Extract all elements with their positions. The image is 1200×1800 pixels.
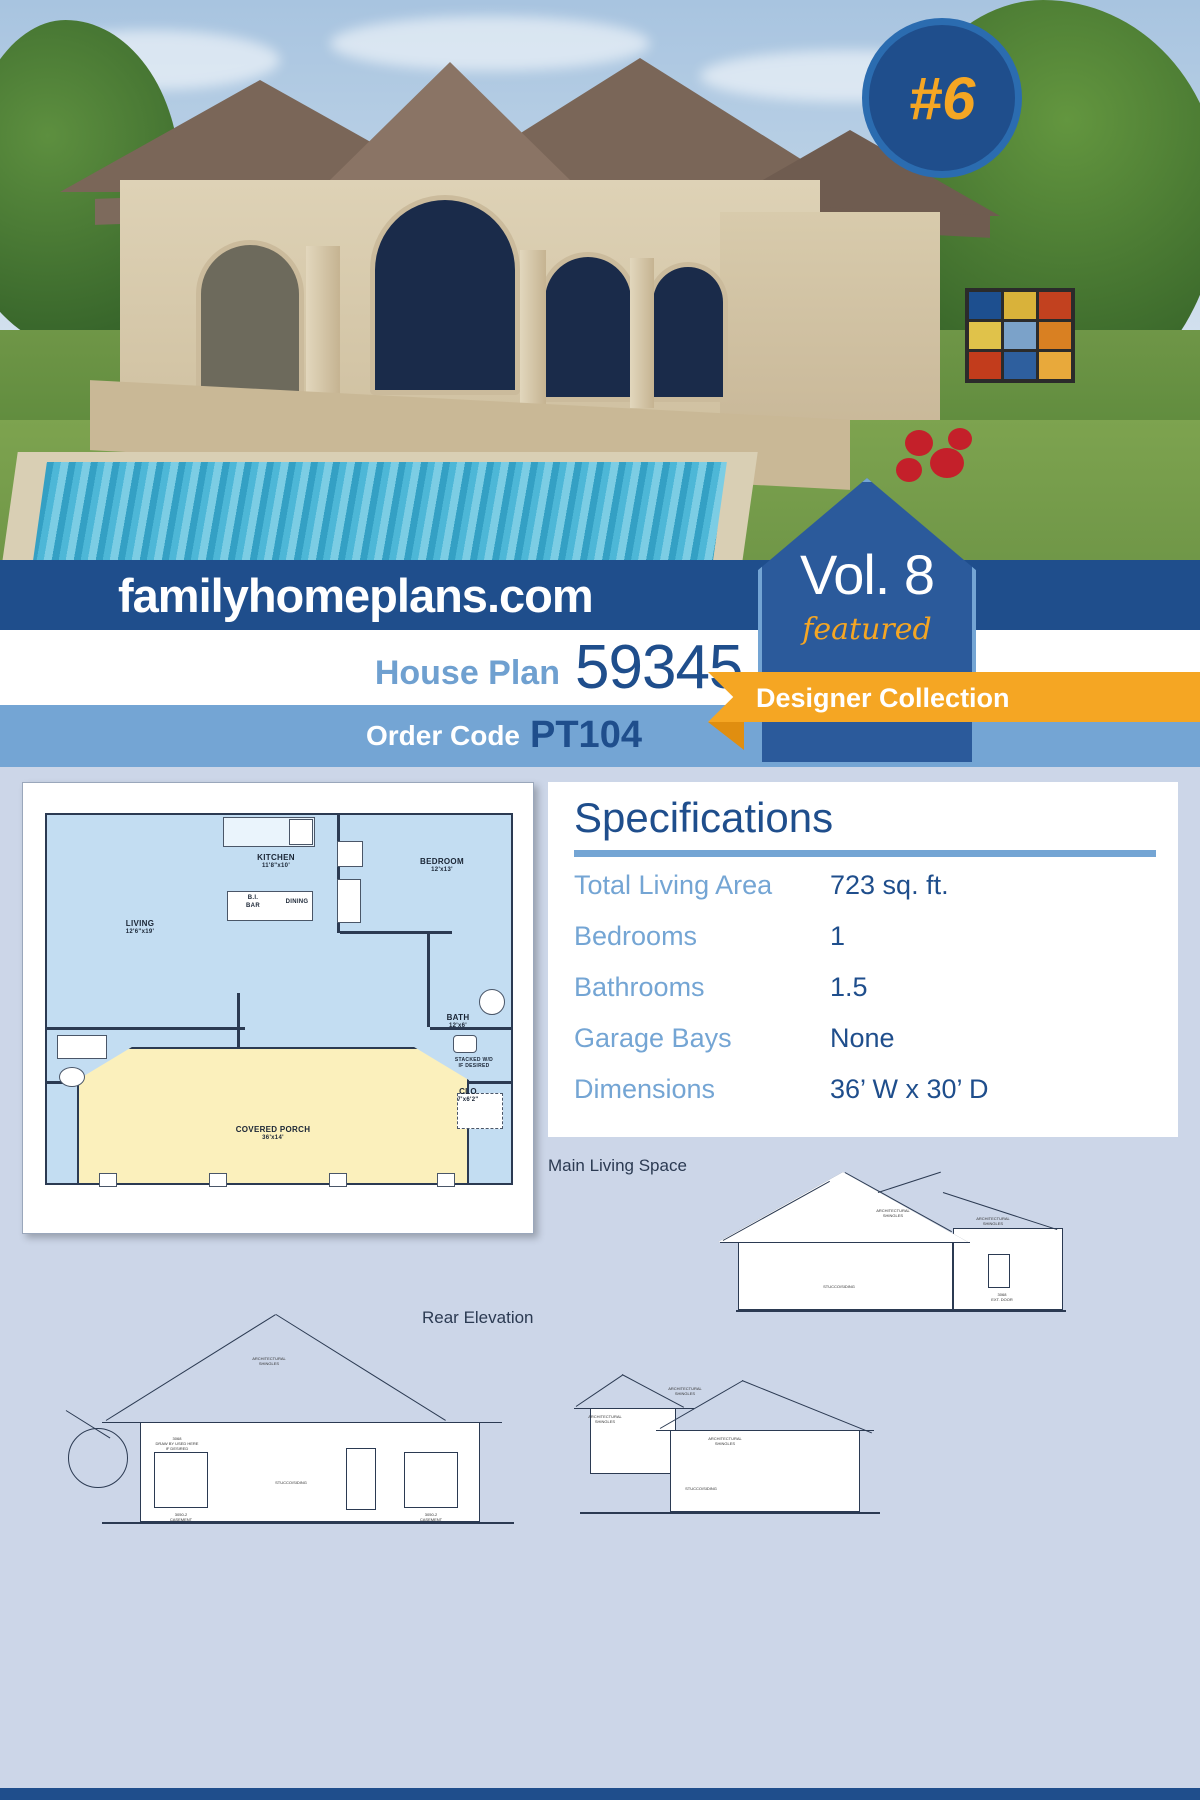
elevation-eave-line [656,1430,874,1431]
elevation-wall [738,1242,953,1310]
note-built-in-bar: B.I. BAR [233,895,273,910]
elevation-roof-edge [576,1375,623,1407]
brand-bar: familyhomeplans.com [0,560,1200,630]
elevation-door [346,1448,376,1510]
room-label-bedroom: BEDROOM 12'x13' [397,857,487,875]
rank-seal-label: #6 [909,64,976,133]
elevation-eave-line [102,1422,502,1423]
room-label-kitchen: KITCHEN 11'8"x10' [231,853,321,871]
toilet-icon [453,1035,477,1053]
elevation-window-casement [404,1452,458,1508]
wall-segment [45,1027,245,1030]
room-name: BEDROOM [420,857,464,866]
designer-collection-label: Designer Collection [756,683,1010,714]
elevation-roof-edge [276,1314,446,1421]
spec-row-dimensions: Dimensions 36’ W x 30’ D [574,1074,1156,1125]
rank-seal-badge: #6 [862,18,1022,178]
house-plan-label: House Plan [375,654,560,693]
elevation-annotation: STUCCO/SIDING [262,1480,320,1485]
elevation-annotation: 3068 DRAW BY USED HERE IF DESIRED [142,1436,212,1452]
spec-key: Bathrooms [574,972,705,1003]
room-dims: 11'8"x10' [231,863,321,871]
site-logo-text[interactable]: familyhomeplans.com [118,568,593,623]
specifications-divider [574,850,1156,857]
footer-bar [0,1788,1200,1800]
elevation-grade-line [736,1310,1066,1312]
room-label-covered-porch: COVERED PORCH 36'x14' [193,1125,353,1143]
spec-value: None [830,1023,895,1054]
wall-segment [340,931,452,934]
flower-icon [905,430,933,456]
spec-row-bathrooms: Bathrooms 1.5 [574,972,1156,1023]
elevation-caption: Rear Elevation [422,1308,534,1328]
featured-label: featured [762,612,972,647]
elevation-annotation: ARCHITECTURAL SHINGLES [964,1216,1022,1226]
note-stacked-washer-dryer: STACKED W/D IF DESIRED [439,1057,509,1070]
spec-key: Bedrooms [574,921,697,952]
room-name: COVERED PORCH [236,1125,311,1134]
spec-value: 1.5 [830,972,868,1003]
elevation-roof-edge [742,1380,872,1433]
room-dims: 7'x6'2" [435,1097,501,1105]
elevation-window [988,1254,1010,1288]
callout-circle-icon [68,1428,128,1488]
elevation-side: ARCHITECTURAL SHINGLES ARCHITECTURAL SHI… [560,1360,960,1560]
spec-row-total-living-area: Total Living Area 723 sq. ft. [574,870,1156,921]
room-name: LIVING [126,919,154,928]
elevation-annotation: ARCHITECTURAL SHINGLES [656,1386,714,1396]
room-name: KITCHEN [257,853,295,862]
plan-number: 59345 [575,632,742,703]
elevation-roof-edge [106,1314,276,1421]
order-code-label: Order Code [366,720,520,752]
elevation-annotation: ARCHITECTURAL SHINGLES [240,1356,298,1366]
elevation-grade-line [580,1512,880,1514]
spec-value: 1 [830,921,845,952]
flower-icon [896,458,922,482]
specifications-panel: Specifications Total Living Area 723 sq.… [548,782,1178,1137]
elevation-eave-line [720,1242,970,1243]
column-left [306,246,340,411]
lavatory-icon [479,989,505,1015]
arch-window-right2 [648,262,728,402]
elevation-main-living-space: Main Living Space ARCHITECTURAL SHINGLES… [548,1150,1188,1350]
column-right [630,258,654,408]
order-code-value: PT104 [530,714,642,757]
spec-value: 723 sq. ft. [830,870,949,901]
floor-plan-drawing: KITCHEN 11'8"x10' LIVING 12'6"x19' BEDRO… [37,795,521,1223]
porch-pier [209,1173,227,1187]
elevation-annotation: ARCHITECTURAL SHINGLES [576,1414,634,1424]
covered-porch-area [77,1047,469,1185]
elevation-annotation: ARCHITECTURAL SHINGLES [696,1436,754,1446]
spec-row-garage-bays: Garage Bays None [574,1023,1156,1074]
specifications-title: Specifications [574,794,833,842]
elevation-annotation: ARCHITECTURAL SHINGLES [864,1208,922,1218]
spec-row-bedrooms: Bedrooms 1 [574,921,1156,972]
floor-plan-panel[interactable]: KITCHEN 11'8"x10' LIVING 12'6"x19' BEDRO… [22,782,534,1234]
swimming-pool [33,462,727,560]
elevation-caption: Main Living Space [548,1156,687,1176]
arch-window-right1 [540,252,636,402]
room-label-bath: BATH 12'x6' [423,1013,493,1031]
room-dims: 36'x14' [193,1135,353,1143]
elevation-annotation: 3050-2 CASEMENT [152,1512,210,1522]
gable-front [330,62,570,180]
column-mid [520,250,546,410]
flower-icon [948,428,972,450]
elevation-roof [718,1172,968,1242]
designer-collection-ribbon: Designer Collection [708,672,1200,722]
spec-key: Total Living Area [574,870,772,901]
porch-pier [437,1173,455,1187]
elevation-annotation: 3050-2 CASEMENT [402,1512,460,1522]
porch-pier [329,1173,347,1187]
sink-icon [337,841,363,867]
room-dims: 12'x13' [397,867,487,875]
elevation-annotation: STUCCO/SIDING [672,1486,730,1491]
elevation-rear: Rear Elevation ARCHITECTURAL SHINGLES 30… [40,1300,560,1540]
flower-icon [930,448,964,478]
cooktop-icon [289,819,313,845]
spec-key: Dimensions [574,1074,715,1105]
room-dims: 12'6"x19' [95,929,185,937]
wall-segment [237,993,240,1047]
volume-label: Vol. 8 [762,542,972,607]
elevation-window-casement [154,1452,208,1508]
elevation-annotation: 3068 EXT. DOOR [980,1292,1024,1302]
elevation-eave-line [574,1408,694,1409]
room-label-living: LIVING 12'6"x19' [95,919,185,937]
room-name: CLO [459,1087,477,1096]
arch-opening-left [196,240,304,400]
spec-value: 36’ W x 30’ D [830,1074,989,1105]
wall-art-icon [965,288,1075,383]
spec-key: Garage Bays [574,1023,732,1054]
note-dining: DINING [273,899,321,907]
elevation-annotation: STUCCO/SIDING [810,1284,868,1289]
arch-window-center [370,195,520,395]
tub-icon [57,1035,107,1059]
half-bath-sink-icon [59,1067,85,1087]
room-dims: 12'x6' [423,1023,493,1031]
refrigerator-icon [337,879,361,923]
house-right-wing [720,212,940,442]
room-name: BATH [447,1013,470,1022]
room-label-closet: CLO 7'x6'2" [435,1087,501,1105]
porch-pier [99,1173,117,1187]
